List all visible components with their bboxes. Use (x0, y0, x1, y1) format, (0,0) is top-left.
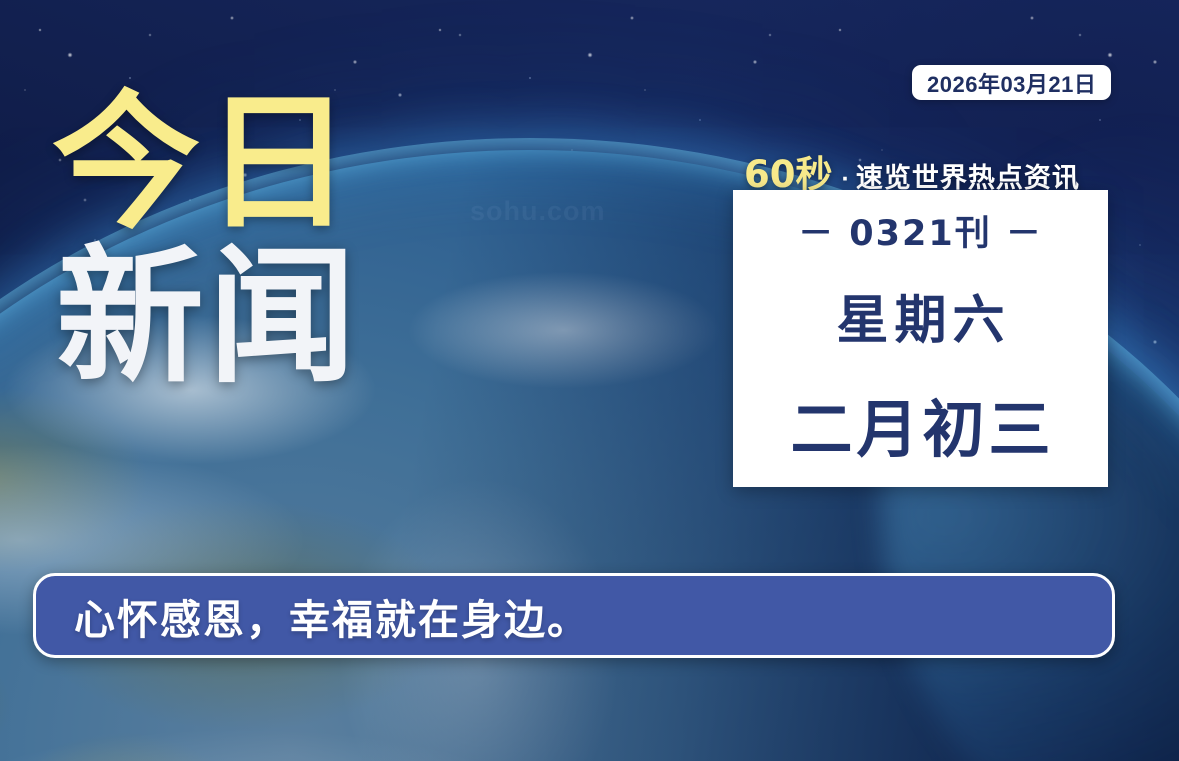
page-title-line-1: 今日 (52, 92, 360, 234)
quote-banner: 心怀感恩，幸福就在身边。 (33, 573, 1115, 658)
issue-info-card: － 0321刊 － 星期六 二月初三 (733, 190, 1108, 487)
date-badge-label: 2026年03月21日 (927, 67, 1096, 99)
lunar-date: 二月初三 (786, 379, 1054, 469)
weekday-label: 星期六 (830, 278, 1010, 353)
news-poster: sohu.com 今日 新闻 2026年03月21日 60秒 · 速览世界热点资… (0, 0, 1179, 761)
page-title-line-2: 新闻 (56, 246, 360, 388)
quote-text: 心怀感恩，幸福就在身边。 (74, 586, 590, 646)
date-badge: 2026年03月21日 (912, 65, 1111, 100)
page-title: 今日 新闻 (52, 92, 360, 388)
issue-number: － 0321刊 － (798, 205, 1043, 256)
